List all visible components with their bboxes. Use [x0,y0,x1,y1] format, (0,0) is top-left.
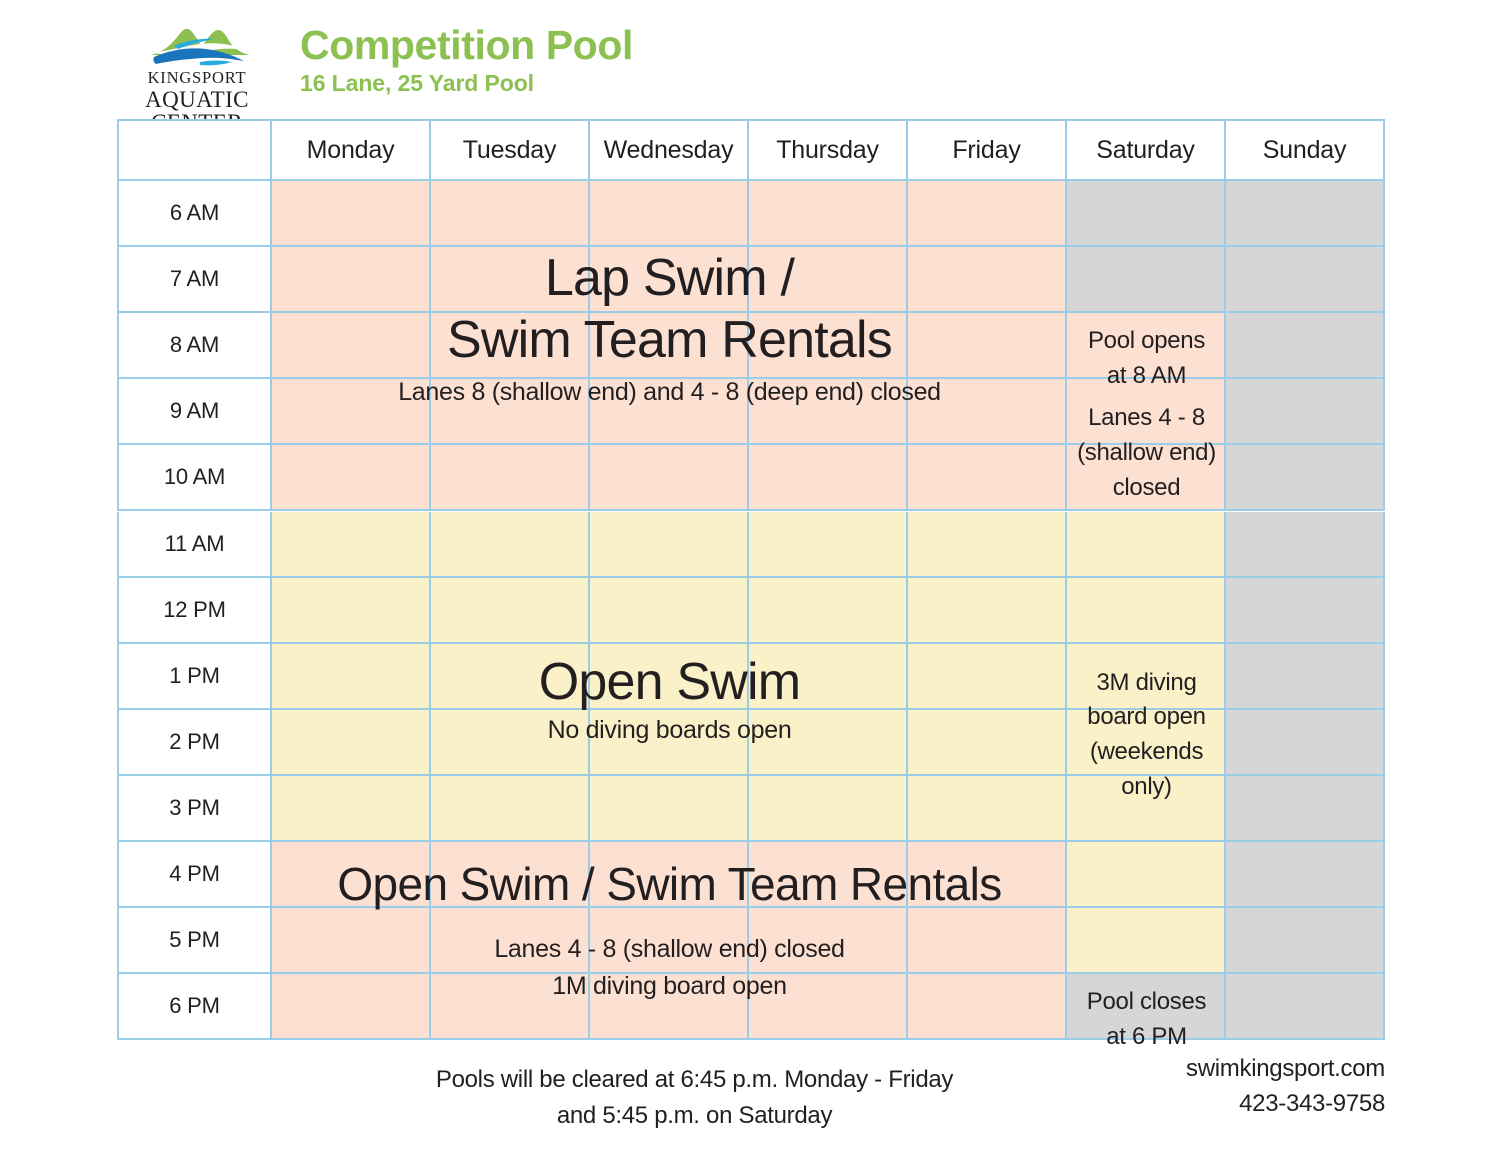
schedule-cell-friday-2-pm [908,710,1067,776]
schedule-cell-friday-4-pm [908,842,1067,908]
schedule-cell-tuesday-1-pm [431,644,590,710]
schedule-cell-thursday-7-am [749,247,908,313]
schedule-cell-tuesday-12-pm [431,578,590,644]
pool-schedule-table: MondayTuesdayWednesdayThursdayFridaySatu… [117,119,1385,1040]
schedule-cell-wednesday-8-am [590,313,749,379]
schedule-cell-friday-12-pm [908,578,1067,644]
schedule-cell-monday-7-am [272,247,431,313]
schedule-cell-sunday-3-pm [1226,776,1385,842]
footer-note-line-2: and 5:45 p.m. on Saturday [117,1098,1272,1134]
schedule-cell-thursday-9-am [749,379,908,445]
schedule-cell-saturday-4-pm [1067,842,1226,908]
schedule-cell-wednesday-6-am [590,181,749,247]
schedule-cell-wednesday-10-am [590,445,749,511]
time-label-5-pm: 5 PM [117,908,272,974]
time-label-8-am: 8 AM [117,313,272,379]
schedule-cell-monday-1-pm [272,644,431,710]
schedule-cell-friday-1-pm [908,644,1067,710]
schedule-cell-saturday-9-am [1067,379,1226,445]
page-subtitle: 16 Lane, 25 Yard Pool [300,71,633,96]
schedule-cell-thursday-6-am [749,181,908,247]
schedule-cell-friday-11-am [908,512,1067,578]
schedule-cell-sunday-11-am [1226,512,1385,578]
schedule-cell-sunday-9-am [1226,379,1385,445]
schedule-cell-wednesday-7-am [590,247,749,313]
schedule-cell-saturday-5-pm [1067,908,1226,974]
schedule-cell-monday-3-pm [272,776,431,842]
footer-website[interactable]: swimkingsport.com [1186,1052,1385,1087]
column-header-monday: Monday [272,119,431,181]
kingsport-aquatic-center-logo: KINGSPORT AQUATIC CENTER [108,22,286,108]
time-label-1-pm: 1 PM [117,644,272,710]
time-label-12-pm: 12 PM [117,578,272,644]
schedule-cell-wednesday-12-pm [590,578,749,644]
time-label-9-am: 9 AM [117,379,272,445]
schedule-cell-sunday-5-pm [1226,908,1385,974]
schedule-cell-friday-3-pm [908,776,1067,842]
schedule-cell-tuesday-7-am [431,247,590,313]
schedule-grid: MondayTuesdayWednesdayThursdayFridaySatu… [117,119,1385,1040]
time-label-10-am: 10 AM [117,445,272,511]
schedule-cell-tuesday-10-am [431,445,590,511]
schedule-cell-thursday-8-am [749,313,908,379]
footer-phone[interactable]: 423-343-9758 [1186,1087,1385,1122]
footer-contact: swimkingsport.com 423-343-9758 [1186,1052,1385,1122]
schedule-cell-thursday-1-pm [749,644,908,710]
schedule-cell-monday-10-am [272,445,431,511]
schedule-cell-friday-5-pm [908,908,1067,974]
schedule-cell-tuesday-5-pm [431,908,590,974]
schedule-cell-wednesday-3-pm [590,776,749,842]
schedule-cell-tuesday-2-pm [431,710,590,776]
title-block: Competition Pool 16 Lane, 25 Yard Pool [300,23,633,97]
schedule-cell-tuesday-4-pm [431,842,590,908]
page-header: KINGSPORT AQUATIC CENTER Competition Poo… [0,0,1500,118]
schedule-cell-saturday-12-pm [1067,578,1226,644]
schedule-cell-tuesday-9-am [431,379,590,445]
schedule-cell-sunday-6-pm [1226,974,1385,1040]
schedule-cell-saturday-10-am [1067,445,1226,511]
schedule-cell-thursday-3-pm [749,776,908,842]
schedule-cell-wednesday-4-pm [590,842,749,908]
schedule-cell-sunday-6-am [1226,181,1385,247]
schedule-cell-thursday-5-pm [749,908,908,974]
schedule-cell-thursday-12-pm [749,578,908,644]
schedule-cell-friday-9-am [908,379,1067,445]
column-header-saturday: Saturday [1067,119,1226,181]
schedule-cell-thursday-11-am [749,512,908,578]
schedule-cell-monday-6-am [272,181,431,247]
schedule-cell-tuesday-11-am [431,512,590,578]
schedule-cell-wednesday-5-pm [590,908,749,974]
schedule-cell-monday-11-am [272,512,431,578]
column-header-thursday: Thursday [749,119,908,181]
schedule-cell-monday-9-am [272,379,431,445]
schedule-cell-wednesday-6-pm [590,974,749,1040]
schedule-cell-wednesday-11-am [590,512,749,578]
schedule-cell-monday-6-pm [272,974,431,1040]
schedule-cell-friday-10-am [908,445,1067,511]
schedule-cell-thursday-6-pm [749,974,908,1040]
time-label-2-pm: 2 PM [117,710,272,776]
schedule-cell-saturday-8-am [1067,313,1226,379]
schedule-cell-sunday-10-am [1226,445,1385,511]
schedule-cell-wednesday-9-am [590,379,749,445]
schedule-cell-tuesday-3-pm [431,776,590,842]
schedule-cell-saturday-1-pm [1067,644,1226,710]
time-label-6-am: 6 AM [117,181,272,247]
schedule-cell-tuesday-6-am [431,181,590,247]
column-header-sunday: Sunday [1226,119,1385,181]
schedule-cell-wednesday-1-pm [590,644,749,710]
schedule-cell-tuesday-8-am [431,313,590,379]
schedule-cell-saturday-11-am [1067,512,1226,578]
mountains-and-water-logo-icon [144,22,256,70]
column-header-tuesday: Tuesday [431,119,590,181]
schedule-cell-sunday-12-pm [1226,578,1385,644]
time-label-7-am: 7 AM [117,247,272,313]
schedule-cell-sunday-8-am [1226,313,1385,379]
schedule-cell-friday-6-am [908,181,1067,247]
schedule-cell-sunday-2-pm [1226,710,1385,776]
schedule-cell-sunday-7-am [1226,247,1385,313]
schedule-cell-sunday-1-pm [1226,644,1385,710]
footer-note-line-1: Pools will be cleared at 6:45 p.m. Monda… [117,1062,1272,1098]
footer-clearing-note: Pools will be cleared at 6:45 p.m. Monda… [117,1062,1272,1134]
schedule-cell-friday-6-pm [908,974,1067,1040]
column-header-friday: Friday [908,119,1067,181]
schedule-cell-monday-5-pm [272,908,431,974]
schedule-cell-monday-8-am [272,313,431,379]
logo-wordmark-kingsport: KINGSPORT [108,70,286,87]
schedule-cell-thursday-10-am [749,445,908,511]
schedule-cell-wednesday-2-pm [590,710,749,776]
schedule-cell-saturday-6-am [1067,181,1226,247]
time-label-4-pm: 4 PM [117,842,272,908]
schedule-cell-saturday-6-pm [1067,974,1226,1040]
schedule-cell-tuesday-6-pm [431,974,590,1040]
table-corner-cell [117,119,272,181]
schedule-cell-thursday-4-pm [749,842,908,908]
time-label-6-pm: 6 PM [117,974,272,1040]
schedule-cell-monday-2-pm [272,710,431,776]
schedule-cell-saturday-3-pm [1067,776,1226,842]
schedule-cell-monday-12-pm [272,578,431,644]
schedule-cell-sunday-4-pm [1226,842,1385,908]
schedule-cell-friday-8-am [908,313,1067,379]
schedule-cell-saturday-2-pm [1067,710,1226,776]
schedule-cell-saturday-7-am [1067,247,1226,313]
page-title: Competition Pool [300,23,633,67]
time-label-3-pm: 3 PM [117,776,272,842]
schedule-cell-friday-7-am [908,247,1067,313]
schedule-cell-monday-4-pm [272,842,431,908]
time-label-11-am: 11 AM [117,512,272,578]
schedule-cell-thursday-2-pm [749,710,908,776]
column-header-wednesday: Wednesday [590,119,749,181]
